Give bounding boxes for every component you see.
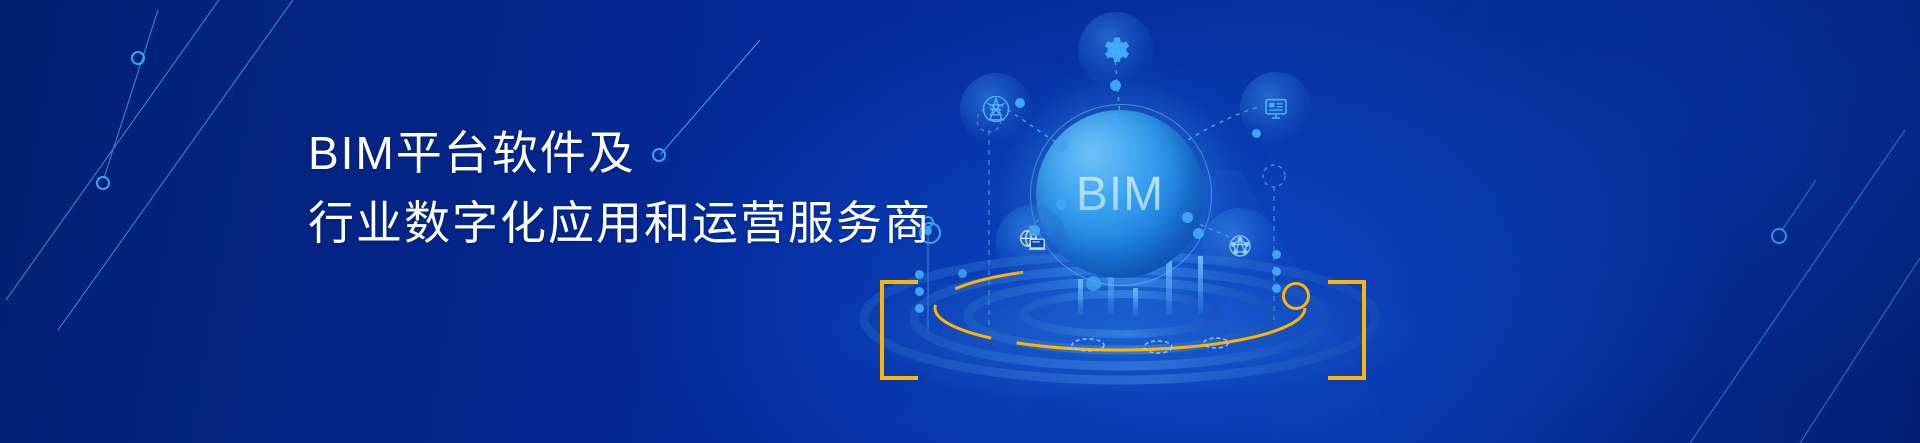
monitor-anchor-dot (1252, 129, 1261, 138)
hero-banner: BIM (0, 0, 1920, 443)
power-tower-icon (976, 89, 1016, 129)
diagonal-lines-left (6, 0, 300, 330)
node-globe-laptop[interactable] (996, 205, 1068, 277)
diagonal-lines-right (1690, 130, 1920, 443)
network-globe-icon (1220, 226, 1260, 266)
microdots-right (1272, 250, 1281, 293)
bracket-left (880, 280, 918, 380)
gear-node-anchor-dot (1110, 80, 1121, 91)
node-gear[interactable] (1078, 12, 1154, 88)
power-tower-anchor-dot (1015, 98, 1025, 108)
pole-top-circle-right (1263, 165, 1285, 187)
headline: BIM平台软件及 行业数字化应用和运营服务商 (308, 118, 932, 258)
gear-icon (1101, 35, 1131, 65)
decor-circle-left-mid (97, 177, 109, 189)
sphere-anchor-dot-lower (1056, 199, 1067, 210)
floating-dot-b (958, 269, 967, 278)
globe-laptop-anchor-dot (1029, 225, 1040, 236)
background-decoration (0, 0, 1920, 443)
network-globe-anchor-dot (1193, 228, 1204, 239)
bracket-right (1328, 280, 1366, 380)
monitor-icon (1256, 88, 1296, 128)
headline-line-2: 行业数字化应用和运营服务商 (308, 188, 932, 258)
sphere-anchor-dot-right (1182, 212, 1193, 223)
orange-accent-circle (1282, 282, 1310, 310)
decor-circle-right (1772, 229, 1786, 243)
node-monitor[interactable] (1240, 72, 1312, 144)
sphere-anchor-dot-left (1056, 141, 1067, 152)
headline-line-1: BIM平台软件及 (308, 118, 932, 188)
node-power-tower[interactable] (960, 73, 1032, 145)
sphere-anchor-dot-top (1108, 113, 1119, 124)
floating-dot-a (1086, 276, 1101, 291)
node-network-globe[interactable] (1202, 208, 1278, 284)
